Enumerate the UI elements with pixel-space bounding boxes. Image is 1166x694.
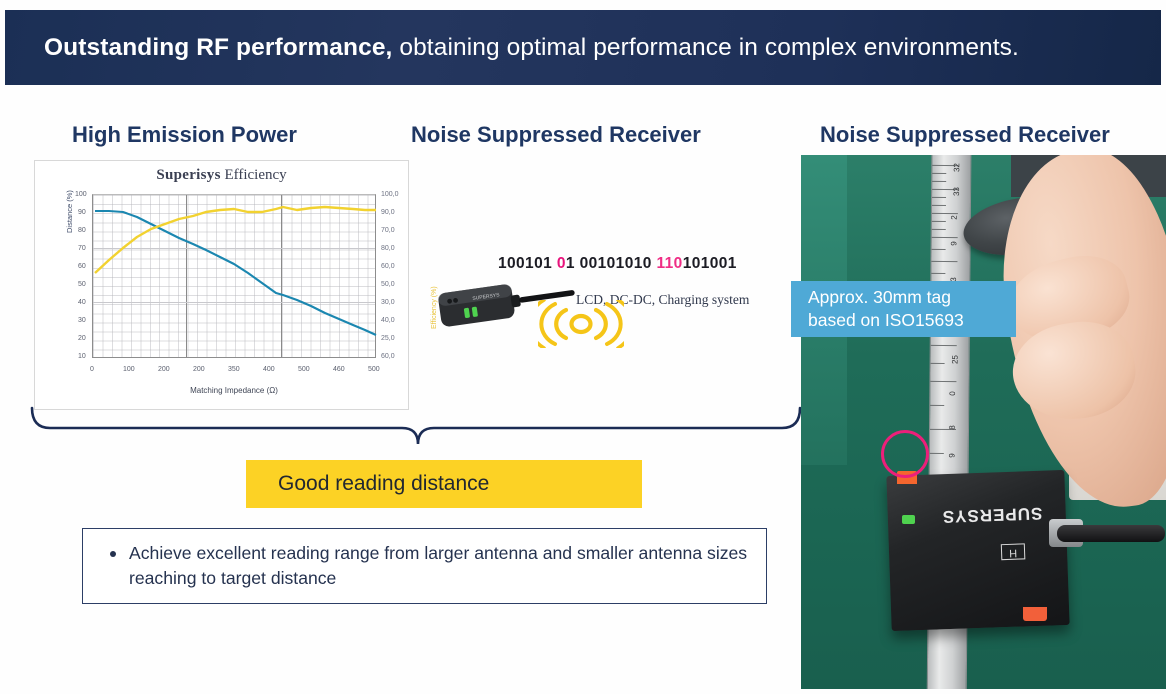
callout-line-1: Approx. 30mm tag [808,286,1016,309]
chart-ylabel-left: Distance (%) [65,190,74,233]
chart-title: Superisys Efficiency [35,167,408,184]
ytick-right-3: 80,0 [381,245,395,252]
ruler-number: 9 [947,453,956,458]
ytick-left-6: 40 [78,299,86,306]
ytick-right-4: 60,0 [381,263,395,270]
ruler-number: 32 [952,163,961,172]
ytick-right-9: 60,0 [381,353,395,360]
binary-highlight-2: 110 [656,255,682,272]
ytick-left-2: 80 [78,227,86,234]
ytick-left-9: 10 [78,353,86,360]
ytick-left-0: 100 [75,191,87,198]
device-brand-label: SUPERSYS [941,503,1042,526]
chart-title-brand: Superisys [156,167,220,183]
ytick-right-7: 40,0 [381,317,395,324]
xtick-6: 500 [298,366,310,373]
page-title-rest: obtaining optimal performance in complex… [392,34,1018,61]
benefit-list: Achieve excellent reading range from lar… [83,541,766,591]
binary-segment-1: 100101 [498,255,557,272]
slide-root: Outstanding RF performance, obtaining op… [0,0,1166,694]
ytick-left-1: 90 [78,209,86,216]
device-corner-marker-bottom [1023,607,1047,621]
ytick-right-6: 30,0 [381,299,395,306]
device-status-led [902,515,915,524]
section-heading-noise-suppressed-receiver-1: Noise Suppressed Receiver [411,122,701,148]
ytick-left-5: 50 [78,281,86,288]
xtick-4: 350 [228,366,240,373]
ytick-right-1: 90,0 [381,209,395,216]
highlight-circle-annotation [881,430,929,478]
device-power-cable [1057,525,1165,542]
page-title: Outstanding RF performance, obtaining op… [5,34,1019,62]
section-heading-noise-suppressed-receiver-2: Noise Suppressed Receiver [820,122,1110,148]
efficiency-chart-card: Superisys Efficiency 100 90 80 70 60 50 … [34,160,409,410]
callout-line-2: based on ISO15693 [808,309,1016,332]
ytick-left-4: 60 [78,263,86,270]
xtick-1: 100 [123,366,135,373]
grouping-brace [28,404,804,466]
list-item: Achieve excellent reading range from lar… [109,541,766,591]
ytick-right-8: 25,0 [381,335,395,342]
ruler-number: 8 [948,425,957,430]
key-benefit-box: Achieve excellent reading range from lar… [82,528,767,604]
ytick-left-8: 20 [78,335,86,342]
ruler-number: 33 [952,187,961,196]
ytick-right-5: 50,0 [381,281,395,288]
binary-segment-3: 101001 [683,255,737,272]
tag-spec-callout: Approx. 30mm tag based on ISO15693 [791,281,1016,337]
good-reading-distance-banner: Good reading distance [246,460,642,508]
chart-title-rest: Efficiency [221,167,287,183]
section-heading-high-emission-power: High Emission Power [72,122,297,148]
chart-xlabel: Matching Impedance (Ω) [92,386,376,395]
tag-measurement-photo: 32 33 2 9 3 25 0 8 9 21 6.00 0.78 [801,155,1166,689]
binary-segment-2: 1 00101010 [566,255,657,272]
header-banner: Outstanding RF performance, obtaining op… [5,10,1161,85]
xtick-0: 0 [90,366,94,373]
xtick-8: 500 [368,366,380,373]
binary-highlight-1: 0 [557,255,566,272]
chart-series-svg [93,195,377,359]
ytick-left-3: 70 [78,245,86,252]
ruler-number: 0 [948,391,957,396]
good-reading-distance-text: Good reading distance [246,472,489,496]
chart-plot-area [92,194,376,358]
xtick-3: 200 [193,366,205,373]
ytick-left-7: 30 [78,317,86,324]
xtick-7: 460 [333,366,345,373]
device-badge-label: H [1001,543,1026,560]
ruler-number: 2 [950,215,959,220]
ruler-number: 9 [949,241,958,246]
ruler-number: 25 [951,355,960,364]
xtick-2: 200 [158,366,170,373]
ytick-right-2: 70,0 [381,227,395,234]
rf-signal-waves-icon [538,300,624,348]
page-title-bold: Outstanding RF performance, [44,34,392,61]
binary-data-stream: 100101 01 00101010 110101001 [498,255,737,273]
ytick-right-0: 100,0 [381,191,399,198]
xtick-5: 400 [263,366,275,373]
series-distance-line [95,211,376,335]
